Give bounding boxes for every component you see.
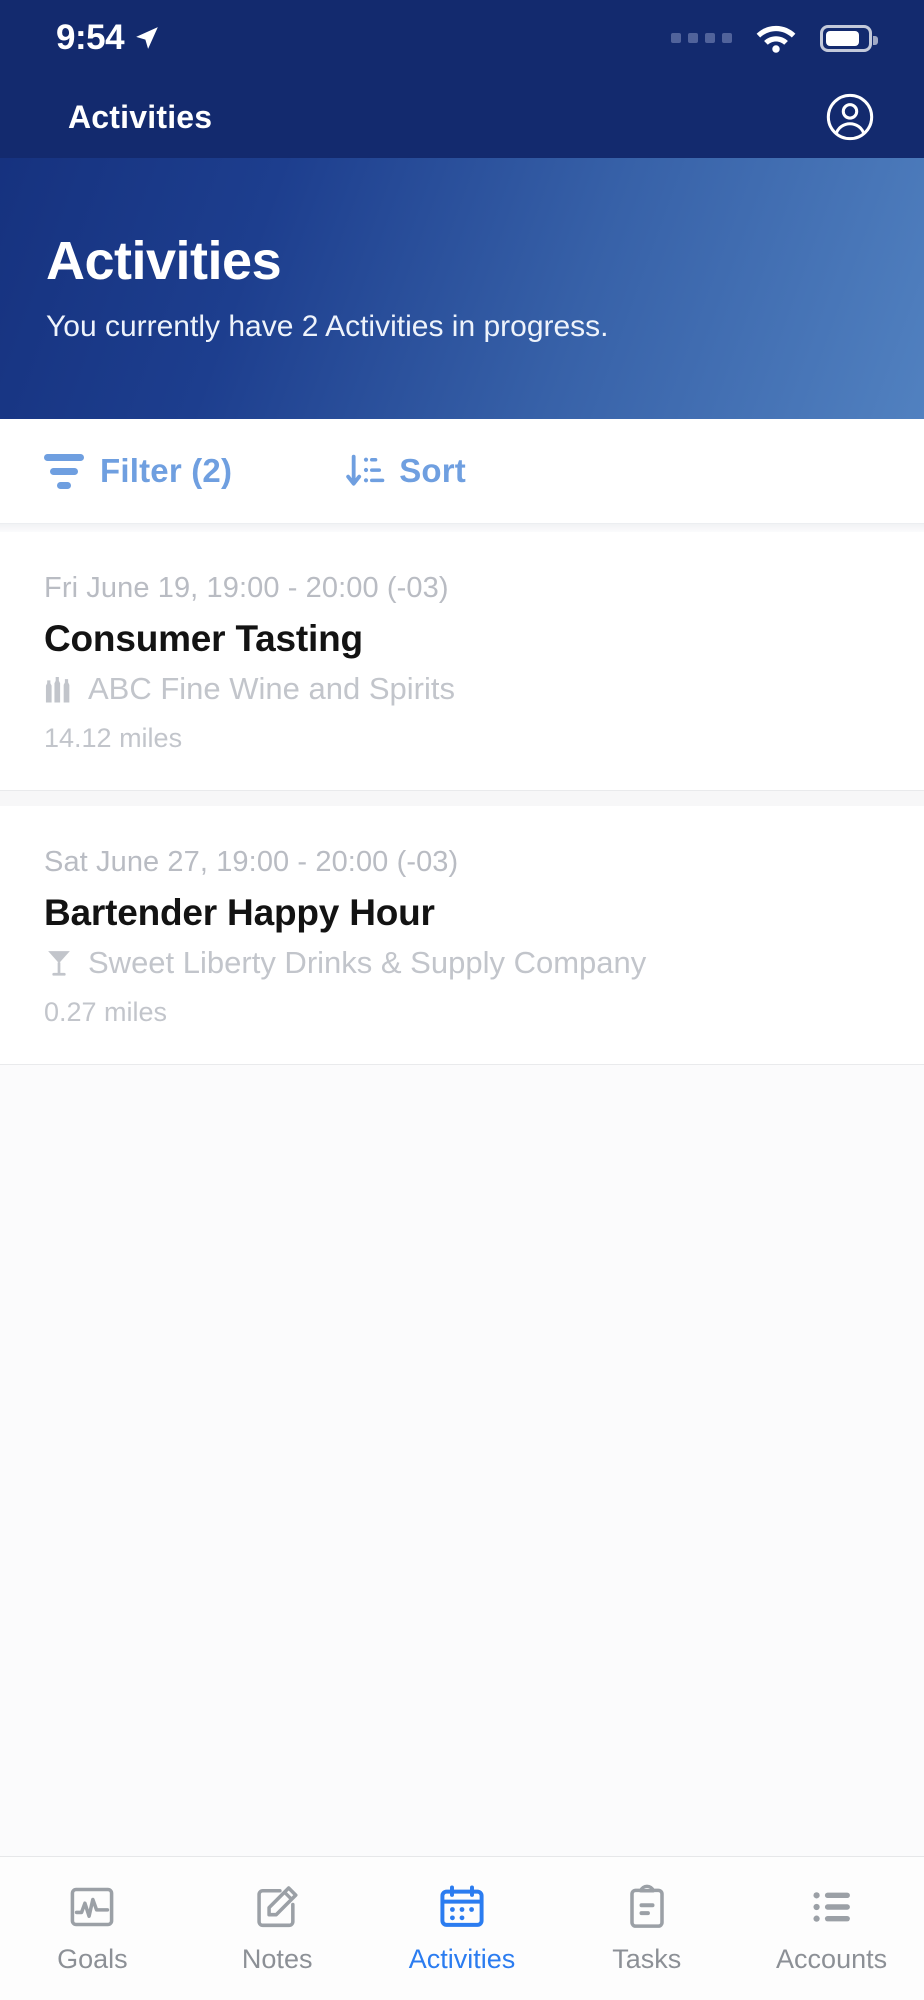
tab-label: Accounts bbox=[776, 1944, 887, 1975]
sort-descending-icon bbox=[344, 451, 386, 491]
activity-title: Consumer Tasting bbox=[44, 618, 880, 660]
filter-button-label: Filter (2) bbox=[100, 452, 232, 490]
bottles-icon bbox=[44, 673, 74, 705]
battery-icon bbox=[820, 25, 872, 52]
tab-label: Activities bbox=[409, 1944, 516, 1975]
bottom-tab-bar: Goals Notes Activities bbox=[0, 1856, 924, 2000]
status-bar-right bbox=[671, 22, 872, 54]
cocktail-glass-icon bbox=[44, 947, 74, 979]
activity-venue: ABC Fine Wine and Spirits bbox=[44, 671, 880, 707]
filter-button[interactable]: Filter (2) bbox=[44, 452, 232, 490]
activity-distance: 14.12 miles bbox=[44, 723, 880, 754]
tab-label: Goals bbox=[57, 1944, 128, 1975]
status-bar: 9:54 bbox=[0, 0, 924, 76]
activities-list: Fri June 19, 19:00 - 20:00 (-03) Consume… bbox=[0, 524, 924, 1856]
clipboard-icon bbox=[622, 1882, 672, 1932]
activity-date: Sat June 27, 19:00 - 20:00 (-03) bbox=[44, 846, 880, 879]
signal-dots-icon bbox=[671, 33, 732, 43]
tab-label: Notes bbox=[242, 1944, 313, 1975]
tab-activities[interactable]: Activities bbox=[370, 1882, 555, 1975]
goals-chart-icon bbox=[67, 1882, 117, 1932]
nav-title: Activities bbox=[68, 99, 212, 136]
hero-banner: Activities You currently have 2 Activiti… bbox=[0, 158, 924, 419]
activity-venue-name: ABC Fine Wine and Spirits bbox=[88, 671, 455, 707]
activity-date: Fri June 19, 19:00 - 20:00 (-03) bbox=[44, 572, 880, 605]
filter-sort-toolbar: Filter (2) Sort bbox=[0, 419, 924, 524]
calendar-icon bbox=[437, 1882, 487, 1932]
activity-venue-name: Sweet Liberty Drinks & Supply Company bbox=[88, 945, 646, 981]
card-gap bbox=[0, 791, 924, 806]
tab-notes[interactable]: Notes bbox=[185, 1882, 370, 1975]
activity-card[interactable]: Fri June 19, 19:00 - 20:00 (-03) Consume… bbox=[0, 532, 924, 791]
page-title: Activities bbox=[46, 234, 878, 288]
tab-label: Tasks bbox=[612, 1944, 681, 1975]
sort-button-label: Sort bbox=[399, 452, 466, 490]
status-bar-left: 9:54 bbox=[56, 18, 160, 58]
activity-title: Bartender Happy Hour bbox=[44, 892, 880, 934]
tab-goals[interactable]: Goals bbox=[0, 1882, 185, 1975]
activity-venue: Sweet Liberty Drinks & Supply Company bbox=[44, 945, 880, 981]
nav-bar: Activities bbox=[0, 76, 924, 158]
filter-lines-icon bbox=[44, 454, 84, 489]
activity-distance: 0.27 miles bbox=[44, 997, 880, 1028]
wifi-icon bbox=[754, 22, 798, 54]
sort-button[interactable]: Sort bbox=[344, 451, 466, 491]
tab-accounts[interactable]: Accounts bbox=[739, 1882, 924, 1975]
location-arrow-icon bbox=[134, 25, 160, 51]
account-circle-icon[interactable] bbox=[824, 91, 876, 143]
status-bar-clock: 9:54 bbox=[56, 18, 124, 58]
app-root: 9:54 Activities Activities You currently… bbox=[0, 0, 924, 2000]
tab-tasks[interactable]: Tasks bbox=[554, 1882, 739, 1975]
notes-pencil-icon bbox=[252, 1882, 302, 1932]
list-top-separator bbox=[0, 524, 924, 532]
activity-card[interactable]: Sat June 27, 19:00 - 20:00 (-03) Bartend… bbox=[0, 806, 924, 1065]
page-subtitle: You currently have 2 Activities in progr… bbox=[46, 310, 878, 343]
list-icon bbox=[807, 1882, 857, 1932]
